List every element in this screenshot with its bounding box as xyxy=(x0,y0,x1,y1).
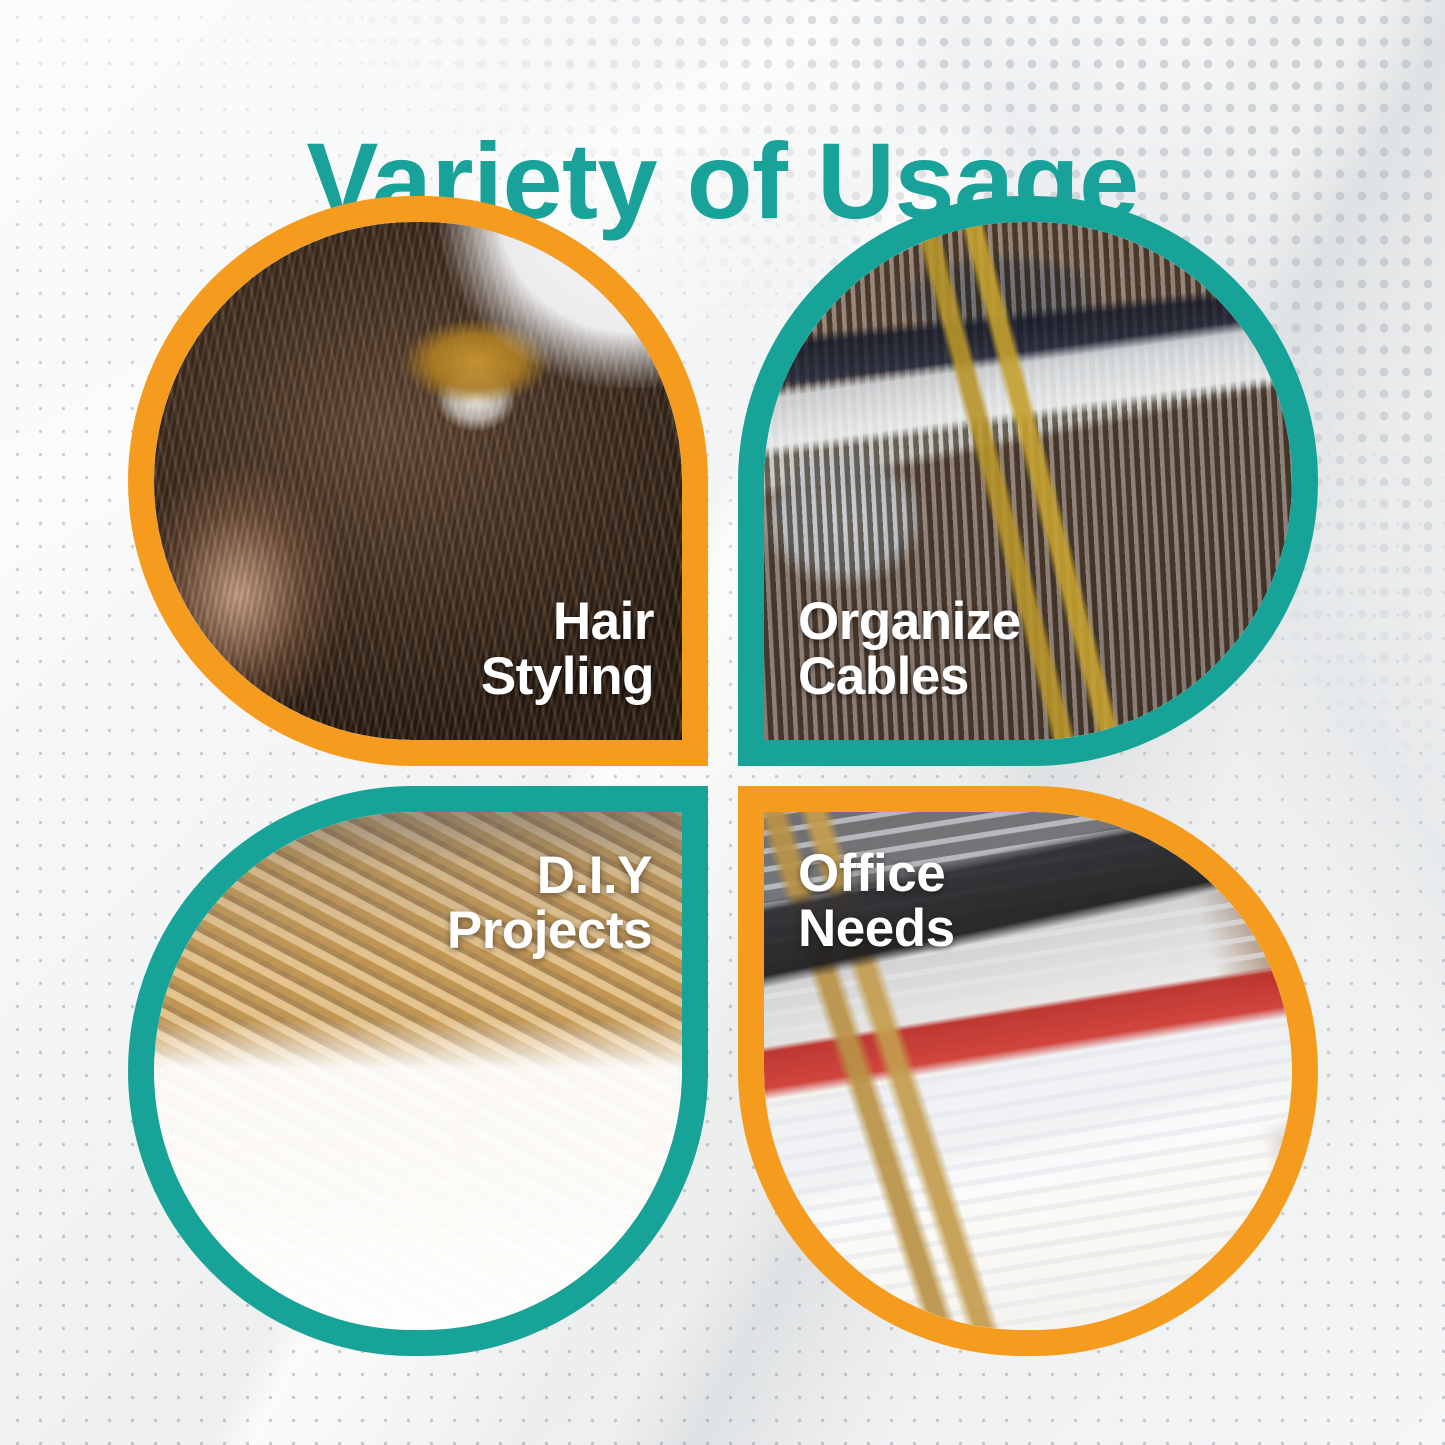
usage-card-label-hair-styling: Hair Styling xyxy=(481,594,654,704)
usage-card-hair-styling[interactable]: Hair Styling xyxy=(128,196,708,766)
usage-card-label-office-needs: Office Needs xyxy=(798,846,955,956)
usage-card-label-diy-projects: D.I.Y Projects xyxy=(447,848,652,958)
usage-card-label-organize-cables: Organize Cables xyxy=(798,594,1021,704)
usage-card-diy-projects[interactable]: D.I.Y Projects xyxy=(128,786,708,1356)
usage-card-organize-cables[interactable]: Organize Cables xyxy=(738,196,1318,766)
usage-petal-grid: Hair Styling Organize Cables D.I.Y Proje… xyxy=(128,196,1318,1356)
usage-card-office-needs[interactable]: Office Needs xyxy=(738,786,1318,1356)
infographic-canvas: Variety of Usage Hair Styling Organize C… xyxy=(0,0,1445,1445)
